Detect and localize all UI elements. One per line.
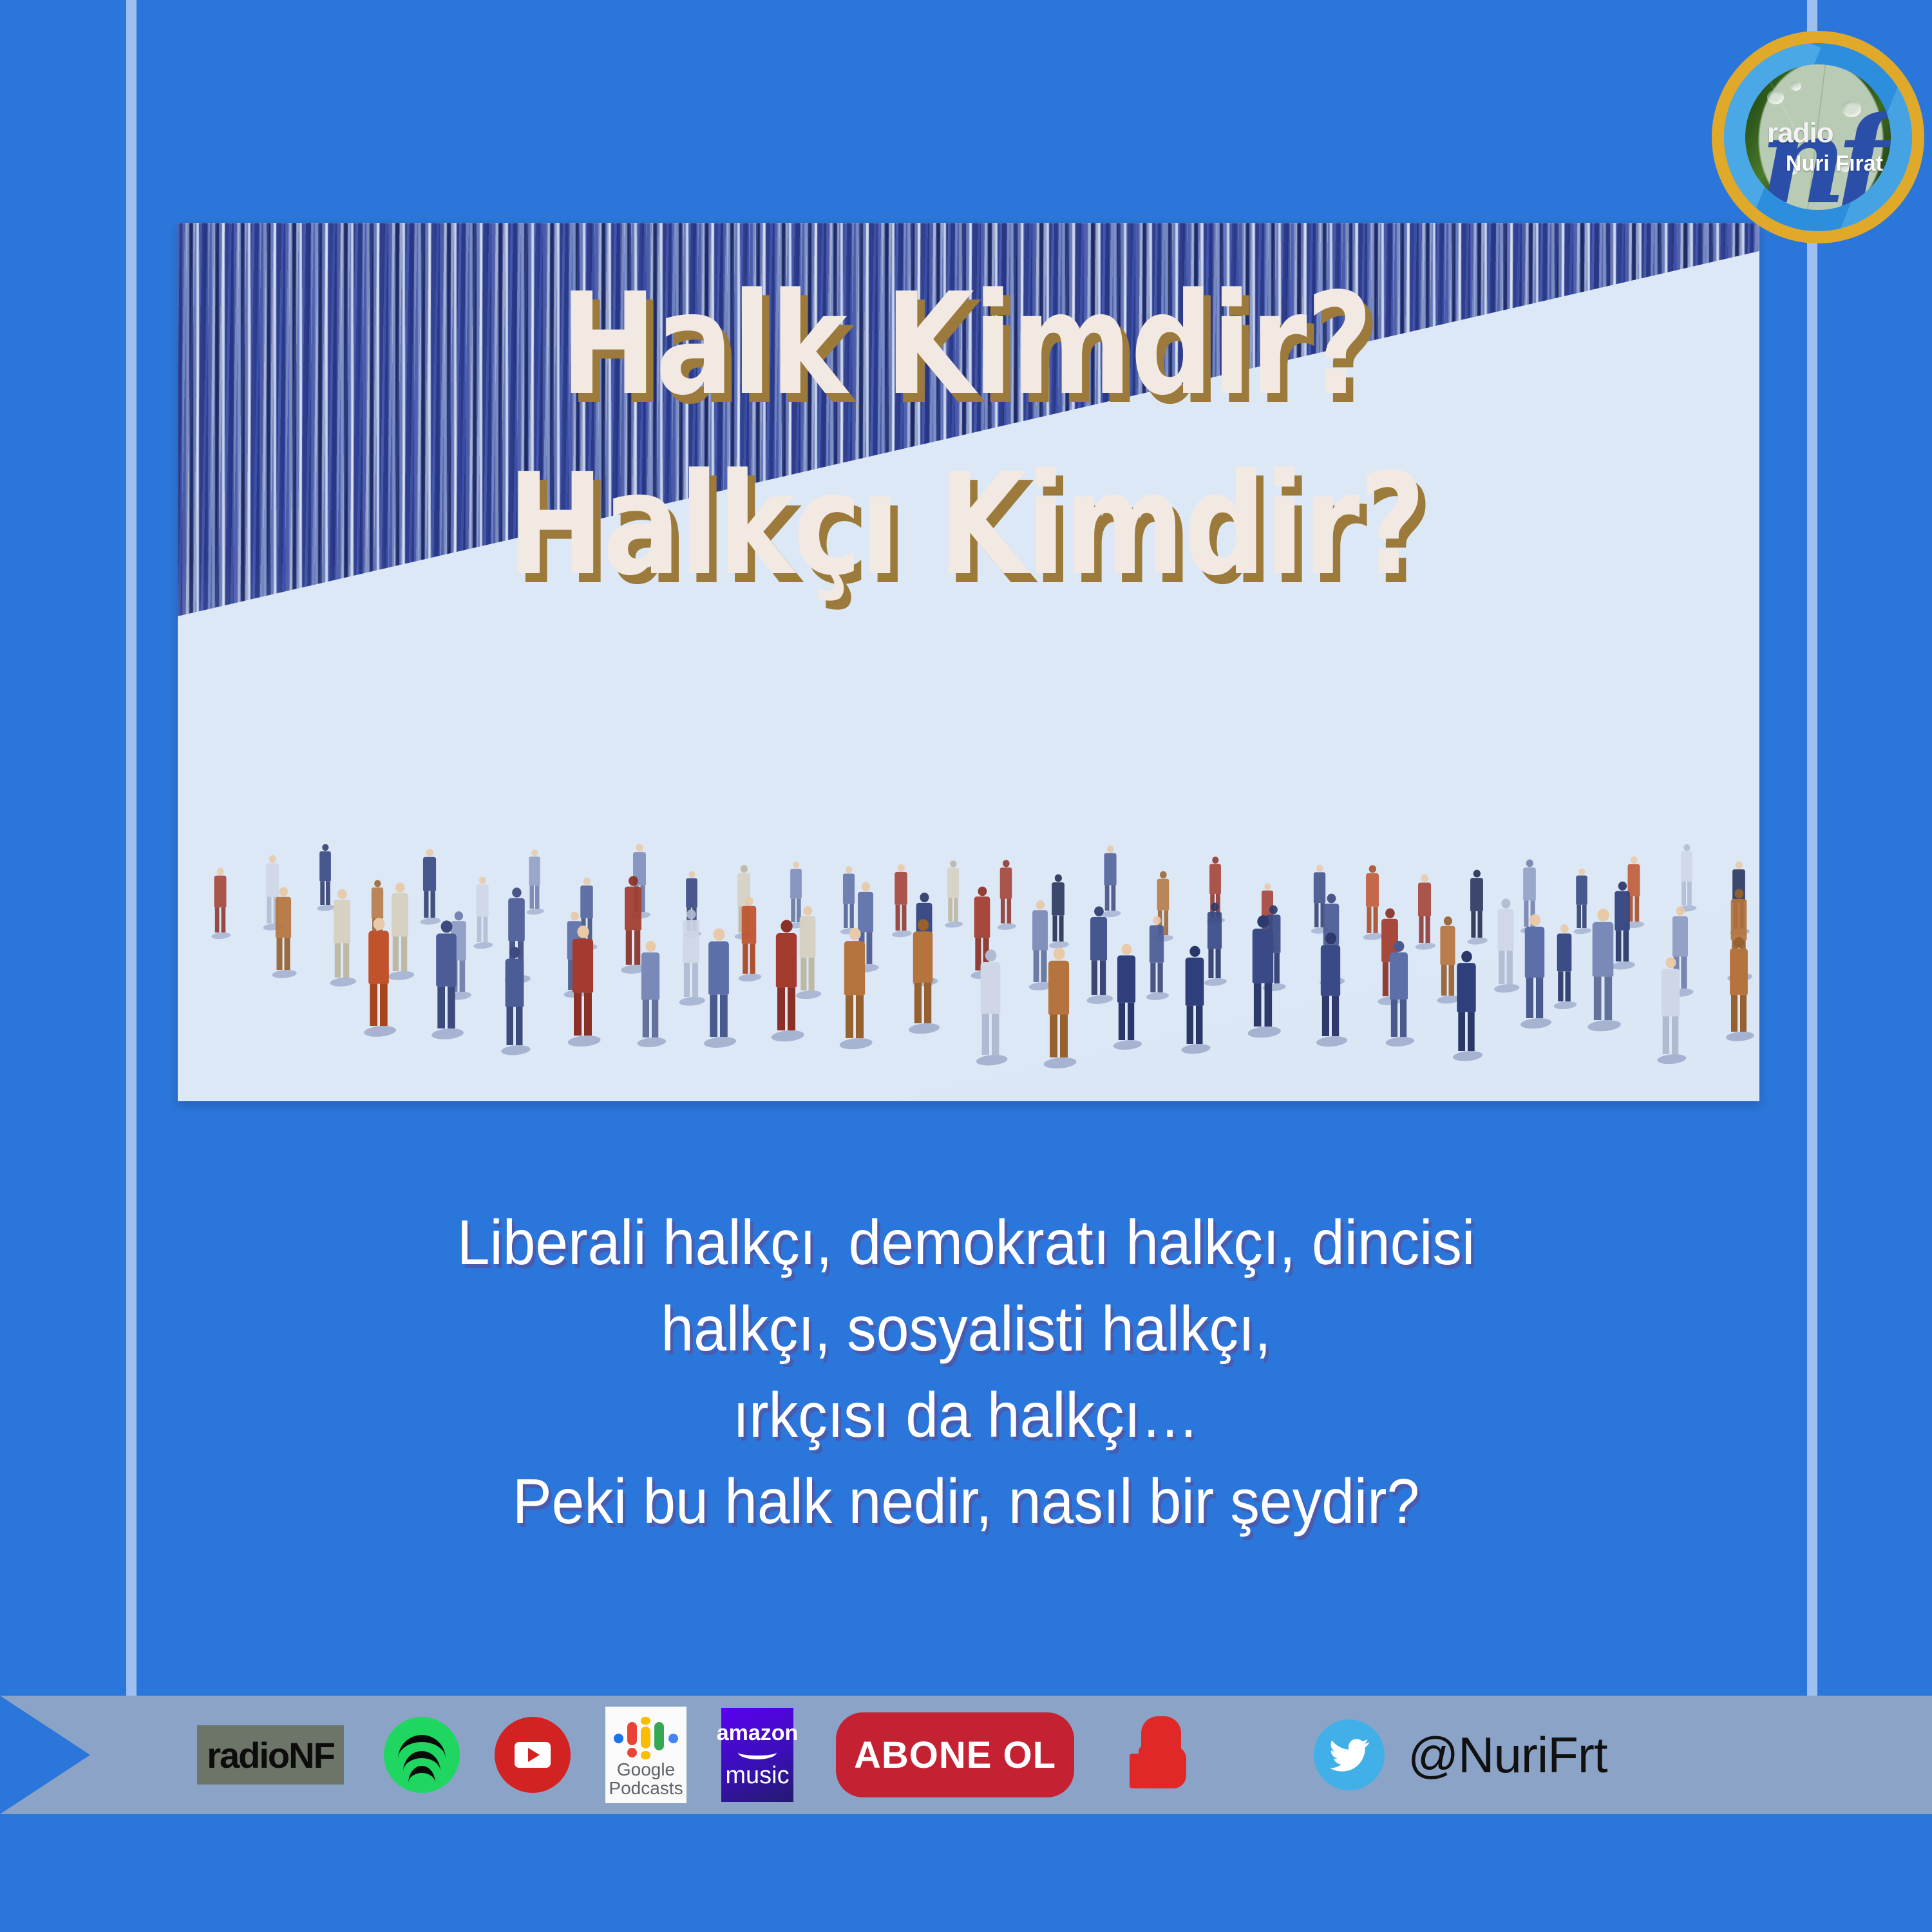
figure-torso: [1523, 867, 1536, 900]
body-line-3: ırkçısı da halkçı…: [68, 1372, 1864, 1458]
figure-head: [217, 868, 224, 875]
gp-dot-red-2: [627, 1748, 637, 1757]
headline-line-2: Halkçı Kimdir?: [174, 451, 1758, 600]
body-line-4: Peki bu halk nedir, nasıl bir şeydir?: [68, 1458, 1864, 1544]
crowd-figure: [843, 927, 867, 1037]
figure-head: [636, 844, 643, 851]
crowd-figure: [367, 918, 390, 1026]
figure-torso: [1157, 878, 1169, 910]
figure-torso: [1366, 873, 1379, 907]
figure-torso: [683, 920, 699, 963]
figure-head: [571, 912, 579, 921]
figure-head: [1421, 874, 1428, 882]
crowd-figure: [1207, 902, 1223, 978]
figure-shadow: [676, 997, 708, 1006]
figure-torso: [572, 939, 592, 993]
figure-legs: [914, 982, 931, 1023]
figure-legs: [1322, 996, 1339, 1036]
figure-torso: [1730, 949, 1748, 995]
figure-legs: [574, 992, 592, 1036]
crowd-figure: [980, 949, 1002, 1055]
twitter-icon[interactable]: [1314, 1719, 1385, 1790]
figure-legs: [1419, 916, 1430, 942]
figure-shadow: [1551, 1001, 1579, 1009]
figure-torso: [686, 878, 697, 908]
crowd-figure: [741, 896, 758, 974]
figure-torso: [1731, 898, 1747, 940]
figure-legs: [1052, 916, 1063, 942]
figure-shadow: [471, 942, 495, 949]
figure-shadow: [1314, 1036, 1350, 1046]
crowd-figure: [1103, 845, 1117, 910]
figure-shadow: [634, 1037, 669, 1047]
figure-head: [1735, 862, 1742, 869]
figure-legs: [777, 987, 795, 1030]
figure-legs: [320, 881, 330, 905]
figure-head: [374, 880, 381, 887]
figure-head: [322, 844, 328, 851]
figure-head: [1618, 882, 1626, 891]
figure-shadow: [943, 922, 965, 928]
figure-head: [1316, 865, 1323, 872]
gp-dot-blue-left: [614, 1734, 623, 1743]
figure-head: [793, 862, 799, 869]
figure-head: [985, 949, 996, 961]
crowd-figure: [1320, 933, 1341, 1036]
figure-head: [1560, 924, 1568, 933]
figure-torso: [437, 934, 457, 987]
figure-torso: [1252, 929, 1273, 983]
figure-legs: [1558, 971, 1571, 1001]
figure-head: [373, 918, 384, 930]
figure-torso: [1418, 882, 1431, 916]
figure-torso: [1662, 969, 1680, 1017]
crowd-figure: [528, 849, 541, 909]
figure-head: [919, 893, 928, 902]
figure-shadow: [209, 933, 232, 939]
figure-head: [269, 855, 276, 863]
figure-head: [898, 864, 905, 872]
crowd-figure: [640, 941, 661, 1037]
crowd-figure: [1184, 946, 1206, 1044]
subscribe-button[interactable]: ABONE OL: [836, 1712, 1074, 1797]
crowd-foreground-figures: [178, 662, 1759, 1066]
figure-legs: [1050, 1015, 1068, 1058]
youtube-play-box: [515, 1742, 551, 1768]
figure-legs: [684, 963, 698, 997]
crowd-figure: [999, 860, 1012, 924]
figure-legs: [1681, 882, 1692, 905]
figure-shadow: [1492, 984, 1522, 992]
body-copy: Liberali halkçı, demokratı halkçı, dinci…: [0, 1199, 1932, 1544]
figure-head: [1385, 909, 1394, 918]
figure-head: [688, 871, 695, 878]
figure-shadow: [973, 1055, 1010, 1065]
figure-torso: [476, 885, 488, 917]
figure-torso: [276, 897, 291, 938]
crowd-figure: [213, 868, 227, 933]
figure-shadow: [428, 1028, 467, 1039]
page-title: Halk Kimdir? Halkçı Kimdir?: [0, 270, 1932, 600]
figure-shadow: [1466, 938, 1490, 945]
figure-torso: [1186, 958, 1204, 1006]
figure-torso: [791, 869, 802, 898]
figure-torso: [1048, 961, 1069, 1015]
figure-shadow: [564, 1036, 603, 1046]
figure-legs: [1616, 931, 1629, 961]
crowd-figure: [435, 921, 458, 1029]
figure-head: [1683, 844, 1689, 851]
figure-shadow: [995, 923, 1018, 930]
figure-head: [1327, 893, 1336, 903]
figure-head: [950, 860, 956, 867]
figure-head: [1596, 909, 1608, 922]
figure-shadow: [837, 1038, 876, 1049]
figure-torso: [776, 933, 797, 987]
figure-legs: [1663, 1017, 1679, 1055]
gp-dot-yellow-3: [641, 1751, 650, 1759]
figure-torso: [999, 867, 1012, 898]
figure-head: [1121, 944, 1132, 955]
gp-dot-green: [654, 1722, 664, 1750]
figure-head: [781, 920, 792, 932]
figure-legs: [1594, 977, 1612, 1020]
figure-head: [426, 849, 433, 857]
figure-torso: [843, 874, 855, 904]
figure-legs: [982, 1014, 999, 1055]
figure-head: [1631, 857, 1638, 864]
body-line-1: Liberali halkçı, demokratı halkçı, dinci…: [68, 1199, 1864, 1285]
crowd-figure: [1524, 914, 1546, 1018]
figure-torso: [1557, 934, 1571, 972]
figure-legs: [1187, 1006, 1203, 1044]
figure-torso: [392, 893, 408, 937]
figure-torso: [1032, 910, 1048, 950]
figure-legs: [393, 937, 408, 972]
amazon-wordmark: amazon: [717, 1722, 799, 1744]
figure-shadow: [1144, 992, 1171, 1000]
figure-head: [687, 909, 696, 919]
figure-torso: [334, 900, 350, 943]
figure-torso: [1592, 922, 1613, 977]
crowd-figure: [1556, 924, 1573, 1001]
figure-head: [1094, 907, 1103, 917]
google-podcasts-icon[interactable]: Google Podcasts: [605, 1707, 687, 1803]
figure-torso: [1117, 956, 1135, 1003]
figure-legs: [1034, 951, 1047, 983]
logo-name-text: Nuri Fırat: [1786, 151, 1883, 176]
figure-head: [1036, 900, 1045, 909]
figure-legs: [625, 930, 640, 965]
figure-head: [1368, 865, 1376, 873]
figure-shadow: [1413, 943, 1437, 950]
amazon-music-icon[interactable]: amazon music: [721, 1708, 793, 1802]
figure-head: [512, 887, 522, 897]
figure-torso: [1457, 963, 1476, 1012]
gp-dot-yellow-1: [641, 1717, 650, 1725]
figure-legs: [1526, 978, 1543, 1018]
figure-legs: [1209, 949, 1221, 978]
figure-legs: [743, 943, 756, 974]
crowd-figure: [475, 877, 489, 943]
radio-nf-logo[interactable]: radio nf Nuri Fırat: [1712, 31, 1924, 243]
logo-radio-text: radio: [1767, 117, 1833, 149]
figure-torso: [1681, 851, 1692, 882]
crowd-figure: [332, 889, 351, 978]
figure-head: [1053, 948, 1065, 960]
figure-torso: [1207, 911, 1222, 949]
figure-legs: [1391, 999, 1406, 1037]
figure-legs: [1577, 905, 1586, 928]
figure-legs: [1091, 961, 1106, 996]
figure-head: [1054, 875, 1061, 882]
figure-torso: [1576, 875, 1587, 904]
figure-head: [279, 887, 288, 897]
figure-head: [454, 911, 462, 920]
figure-head: [1107, 845, 1114, 852]
figure-legs: [846, 995, 864, 1038]
spotify-icon[interactable]: [384, 1717, 460, 1793]
figure-torso: [1104, 853, 1117, 885]
figure-head: [1159, 871, 1166, 878]
figure-head: [1526, 859, 1533, 867]
figure-legs: [1472, 911, 1482, 938]
crowd-figure: [1251, 915, 1274, 1027]
thumbs-up-icon[interactable]: [1130, 1716, 1191, 1794]
crowd-figure: [842, 866, 855, 928]
subscribe-label: ABONE OL: [854, 1734, 1056, 1777]
figure-shadow: [1517, 1018, 1555, 1028]
figure-torso: [947, 868, 959, 898]
figure-shadow: [1084, 995, 1115, 1004]
figure-shadow: [1383, 1037, 1417, 1046]
figure-torso: [625, 886, 641, 930]
figure-head: [1212, 857, 1218, 864]
figure-head: [583, 877, 591, 885]
figure-legs: [506, 1007, 522, 1045]
figure-torso: [1615, 891, 1629, 931]
figure-torso: [529, 857, 540, 885]
figure-torso: [913, 931, 933, 982]
figure-shadow: [1572, 928, 1593, 934]
figure-torso: [742, 905, 757, 943]
figure-torso: [895, 872, 907, 905]
crowd-figure: [571, 925, 594, 1036]
figure-legs: [1367, 907, 1378, 933]
figure-head: [1443, 916, 1452, 925]
figure-shadow: [737, 974, 764, 981]
figure-shadow: [1111, 1040, 1145, 1050]
figure-torso: [641, 952, 659, 1000]
gp-dot-yellow-2: [641, 1727, 650, 1748]
figure-shadow: [1179, 1044, 1213, 1054]
figure-head: [1256, 915, 1268, 928]
figure-legs: [529, 885, 539, 909]
figure-head: [576, 925, 588, 938]
figure-shadow: [327, 978, 359, 987]
crowd-figure: [1660, 958, 1681, 1055]
logo-leaf-photo: radio nf Nuri Fırat: [1745, 64, 1891, 210]
figure-torso: [372, 887, 383, 918]
crowd-figure: [947, 860, 960, 922]
poster-canvas: Halk Kimdir? Halkçı Kimdir? Liberali hal…: [0, 0, 1932, 1932]
figure-head: [395, 883, 405, 893]
figure-head: [1211, 902, 1219, 911]
figure-legs: [949, 898, 959, 922]
crowd-figure: [1417, 874, 1432, 942]
gp-dot-blue-right: [668, 1734, 678, 1743]
figure-torso: [1209, 864, 1221, 894]
figure-shadow: [1202, 978, 1229, 986]
figure-legs: [896, 905, 907, 931]
crowd-figure: [1470, 870, 1484, 938]
figure-head: [509, 947, 520, 958]
figure-torso: [319, 851, 331, 881]
figure-head: [1734, 889, 1743, 898]
figure-shadow: [1244, 1027, 1284, 1037]
figure-torso: [1672, 916, 1688, 956]
figure-torso: [423, 857, 436, 891]
figure-torso: [1498, 909, 1514, 951]
figure-shadow: [768, 1030, 808, 1041]
figure-torso: [858, 891, 873, 931]
figure-torso: [1390, 952, 1408, 999]
figure-head: [1189, 946, 1200, 957]
figure-legs: [1001, 899, 1011, 924]
gp-dot-red-1: [627, 1722, 637, 1745]
youtube-icon[interactable]: [495, 1717, 571, 1793]
crowd-figure: [1591, 909, 1615, 1020]
figure-head: [1734, 937, 1744, 948]
figure-torso: [1090, 917, 1107, 961]
figure-torso: [506, 959, 524, 1007]
figure-legs: [438, 987, 455, 1028]
figure-head: [1264, 883, 1271, 890]
figure-torso: [214, 876, 227, 907]
amazon-smile-icon: [738, 1745, 777, 1759]
figure-torso: [799, 916, 815, 957]
figure-torso: [1150, 925, 1164, 963]
crowd-figure: [390, 883, 409, 972]
figure-head: [803, 906, 812, 916]
figure-head: [1325, 933, 1336, 944]
crowd-figure: [275, 887, 292, 971]
figure-torso: [974, 896, 990, 938]
figure-legs: [277, 938, 290, 970]
figure-head: [531, 849, 538, 856]
figure-head: [861, 882, 870, 891]
headline-line-1: Halk Kimdir?: [174, 270, 1758, 420]
figure-legs: [1441, 965, 1454, 996]
twitter-handle[interactable]: @NuriFrt: [1408, 1726, 1607, 1785]
bottom-ribbon-content: radioNF Google Podcasts: [0, 1696, 1932, 1814]
crowd-figure: [1148, 916, 1164, 992]
crowd-figure: [911, 919, 934, 1023]
figure-legs: [643, 1000, 659, 1038]
figure-head: [846, 866, 852, 873]
body-line-2: halkçı, sosyalisti halkçı,: [68, 1285, 1864, 1372]
figure-shadow: [701, 1037, 739, 1048]
figure-legs: [1253, 983, 1271, 1027]
crowd-figure: [1116, 944, 1137, 1040]
figure-legs: [1731, 995, 1747, 1032]
amazon-music-label: music: [725, 1763, 789, 1788]
crowd-figure: [1728, 937, 1748, 1032]
thumb-palm: [1139, 1746, 1186, 1788]
crowd-figure: [1497, 898, 1515, 984]
crowd-figure: [681, 909, 700, 997]
figure-head: [1676, 906, 1685, 915]
figure-head: [628, 876, 638, 886]
crowd-figure: [1051, 875, 1065, 942]
figure-head: [645, 941, 656, 952]
figure-head: [337, 889, 346, 900]
figure-head: [1394, 941, 1404, 952]
figure-torso: [844, 941, 865, 995]
crowd-figure: [1047, 948, 1070, 1058]
google-podcasts-dots: [612, 1717, 679, 1759]
figure-torso: [1470, 878, 1483, 911]
figure-torso: [1440, 926, 1455, 965]
radionf-logo-chip[interactable]: radioNF: [197, 1725, 344, 1785]
crowd-figure: [1575, 868, 1588, 928]
logo-inner-ring: radio nf Nuri Fırat: [1724, 43, 1912, 231]
crowd-figure: [1089, 907, 1108, 996]
figure-legs: [370, 984, 387, 1026]
figure-head: [478, 877, 486, 885]
crowd-figure: [623, 876, 642, 965]
crowd-figure: [1680, 844, 1692, 905]
figure-legs: [844, 904, 854, 928]
crowd-figure: [894, 864, 908, 931]
figure-legs: [1150, 963, 1162, 992]
figure-legs: [800, 958, 814, 990]
figure-shadow: [361, 1026, 399, 1037]
figure-head: [1461, 951, 1472, 963]
figure-torso: [1052, 882, 1065, 915]
figure-shadow: [498, 1045, 534, 1055]
figure-head: [1501, 898, 1510, 908]
figure-shadow: [1654, 1054, 1689, 1064]
figure-head: [1529, 914, 1540, 926]
figure-head: [917, 919, 928, 931]
radionf-label: radioNF: [207, 1734, 334, 1776]
figure-head: [713, 928, 724, 940]
crowd-figure: [775, 920, 799, 1030]
crowd-figure: [1365, 865, 1379, 933]
figure-legs: [1459, 1012, 1475, 1052]
figure-legs: [710, 994, 728, 1037]
crowd-figure: [1614, 882, 1631, 961]
figure-shadow: [905, 1023, 943, 1034]
figure-head: [978, 887, 987, 896]
figure-legs: [1119, 1003, 1134, 1040]
figure-shadow: [1584, 1020, 1624, 1031]
figure-shadow: [270, 970, 299, 978]
figure-shadow: [1723, 1032, 1756, 1041]
crowd-figure: [422, 849, 437, 918]
figure-head: [741, 866, 748, 873]
play-triangle-icon: [528, 1748, 540, 1762]
crowd-figure: [707, 928, 730, 1036]
figure-shadow: [890, 931, 914, 937]
figure-head: [849, 927, 860, 940]
figure-legs: [477, 917, 488, 943]
figure-torso: [708, 941, 729, 994]
crowd-figure: [1456, 951, 1477, 1051]
figure-torso: [981, 962, 1001, 1014]
figure-head: [1473, 870, 1481, 878]
